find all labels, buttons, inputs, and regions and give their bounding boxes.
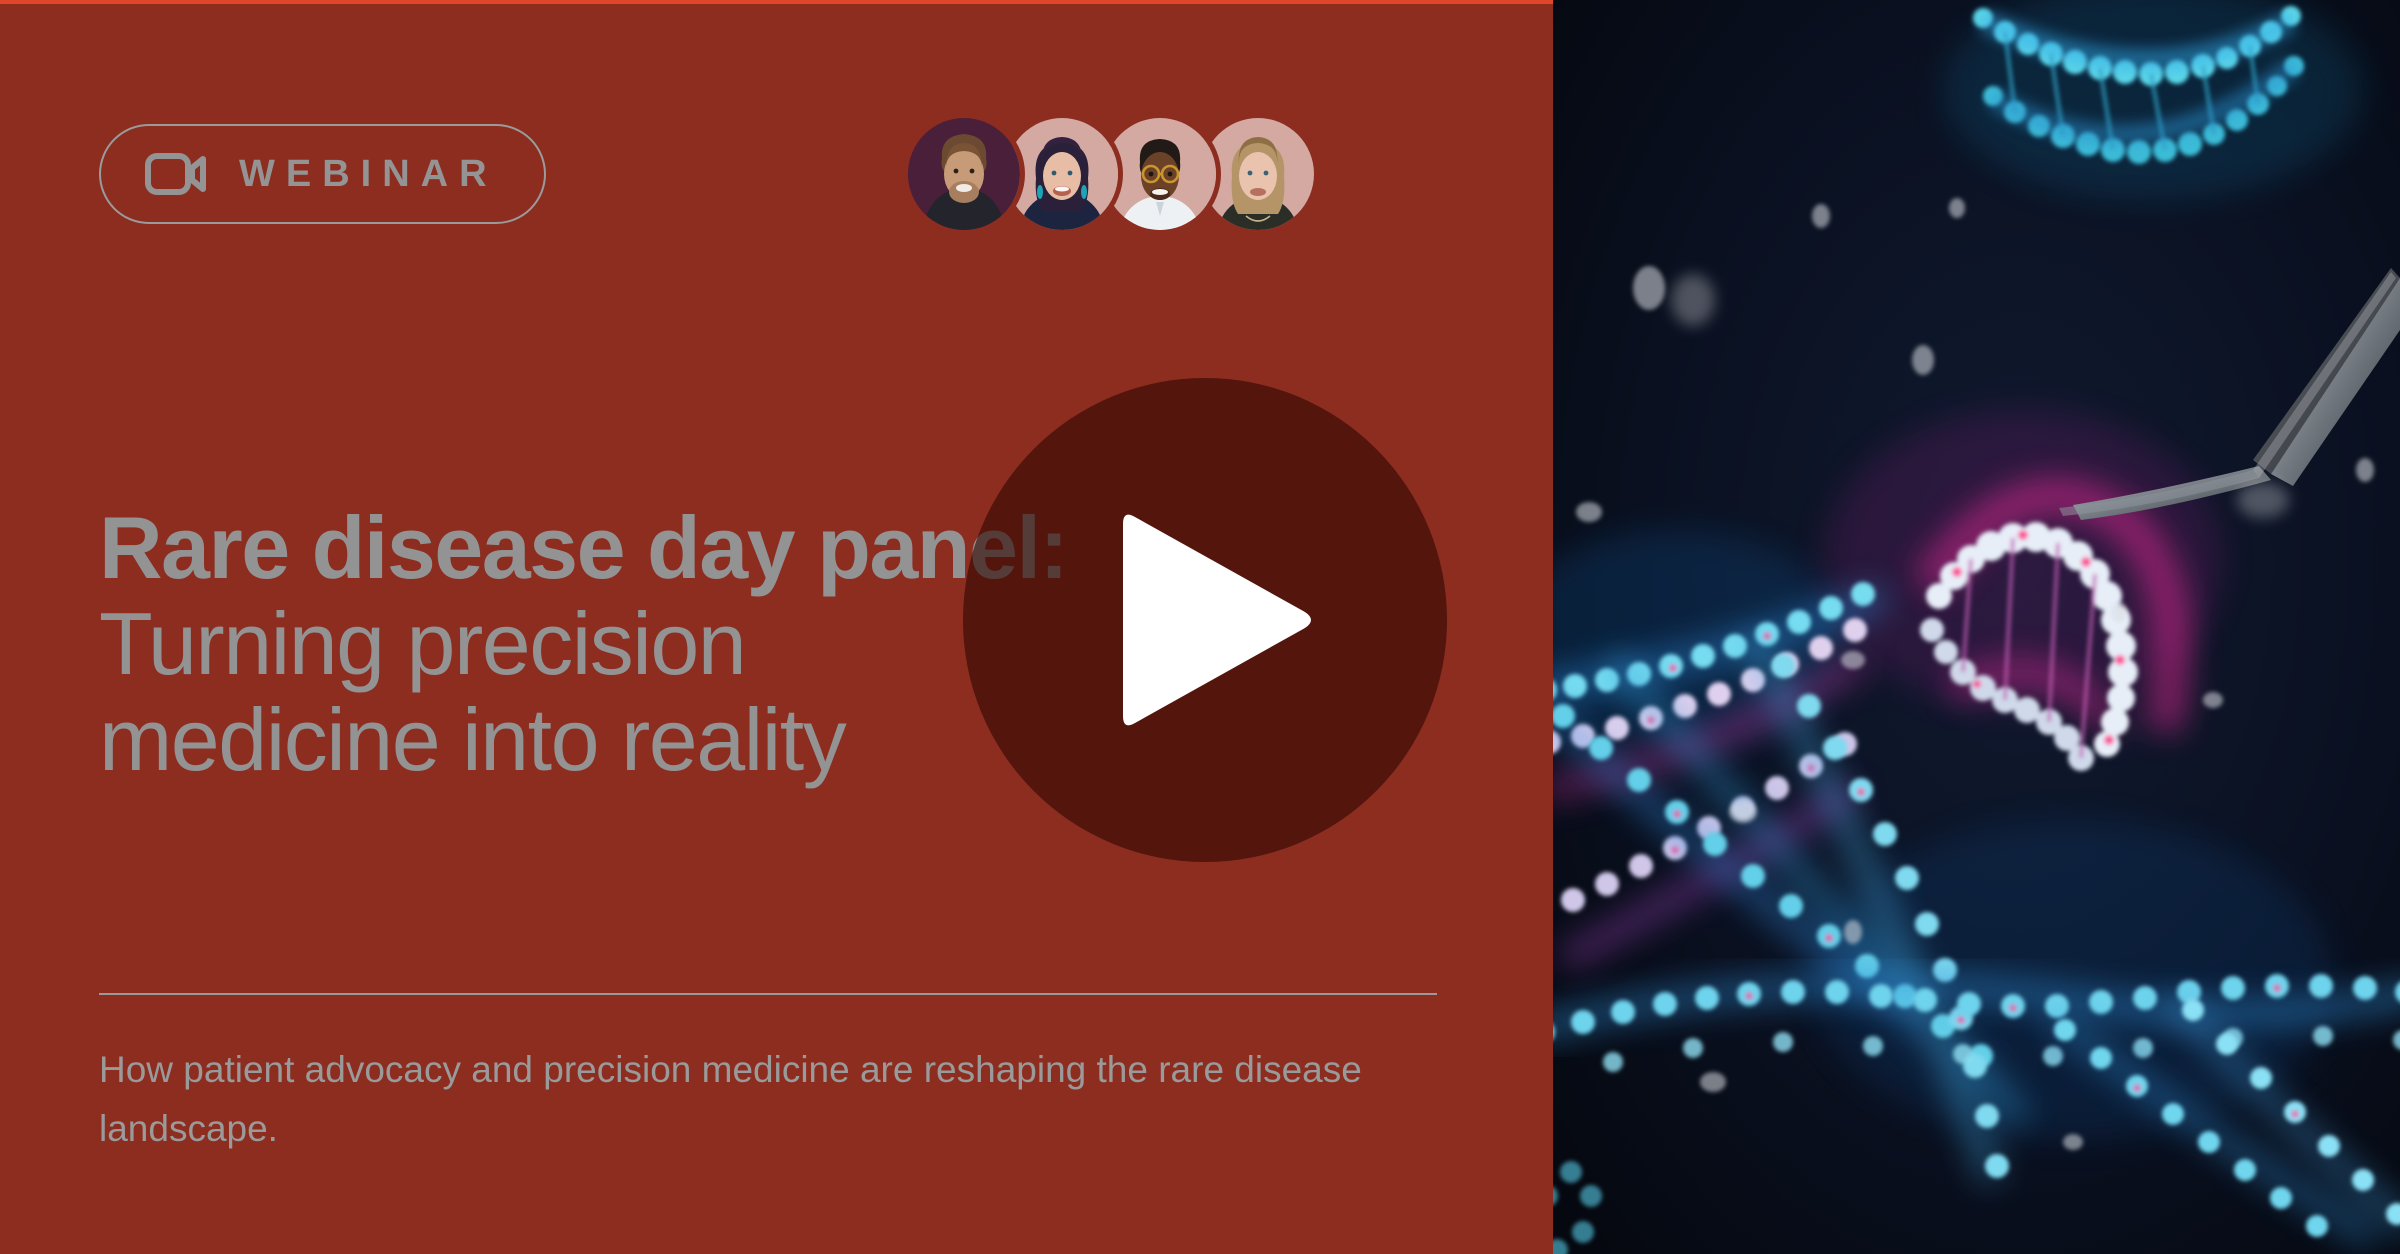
title-divider [99, 993, 1437, 995]
top-accent-strip [0, 0, 1553, 4]
video-camera-icon [145, 150, 207, 198]
avatar [1202, 118, 1314, 230]
subtitle: How patient advocacy and precision medic… [99, 1040, 1439, 1158]
content-panel: WEBINAR [0, 0, 1553, 1254]
play-triangle-icon [1091, 508, 1319, 732]
webinar-badge-label: WEBINAR [239, 155, 498, 193]
avatar [1104, 118, 1216, 230]
speaker-avatar-group [908, 118, 1314, 230]
avatar [908, 118, 1020, 230]
avatar [1006, 118, 1118, 230]
dna-helix-image [1553, 0, 2400, 1254]
webinar-badge: WEBINAR [99, 124, 546, 224]
webinar-video-card: WEBINAR [0, 0, 2400, 1254]
play-button[interactable] [963, 378, 1447, 862]
